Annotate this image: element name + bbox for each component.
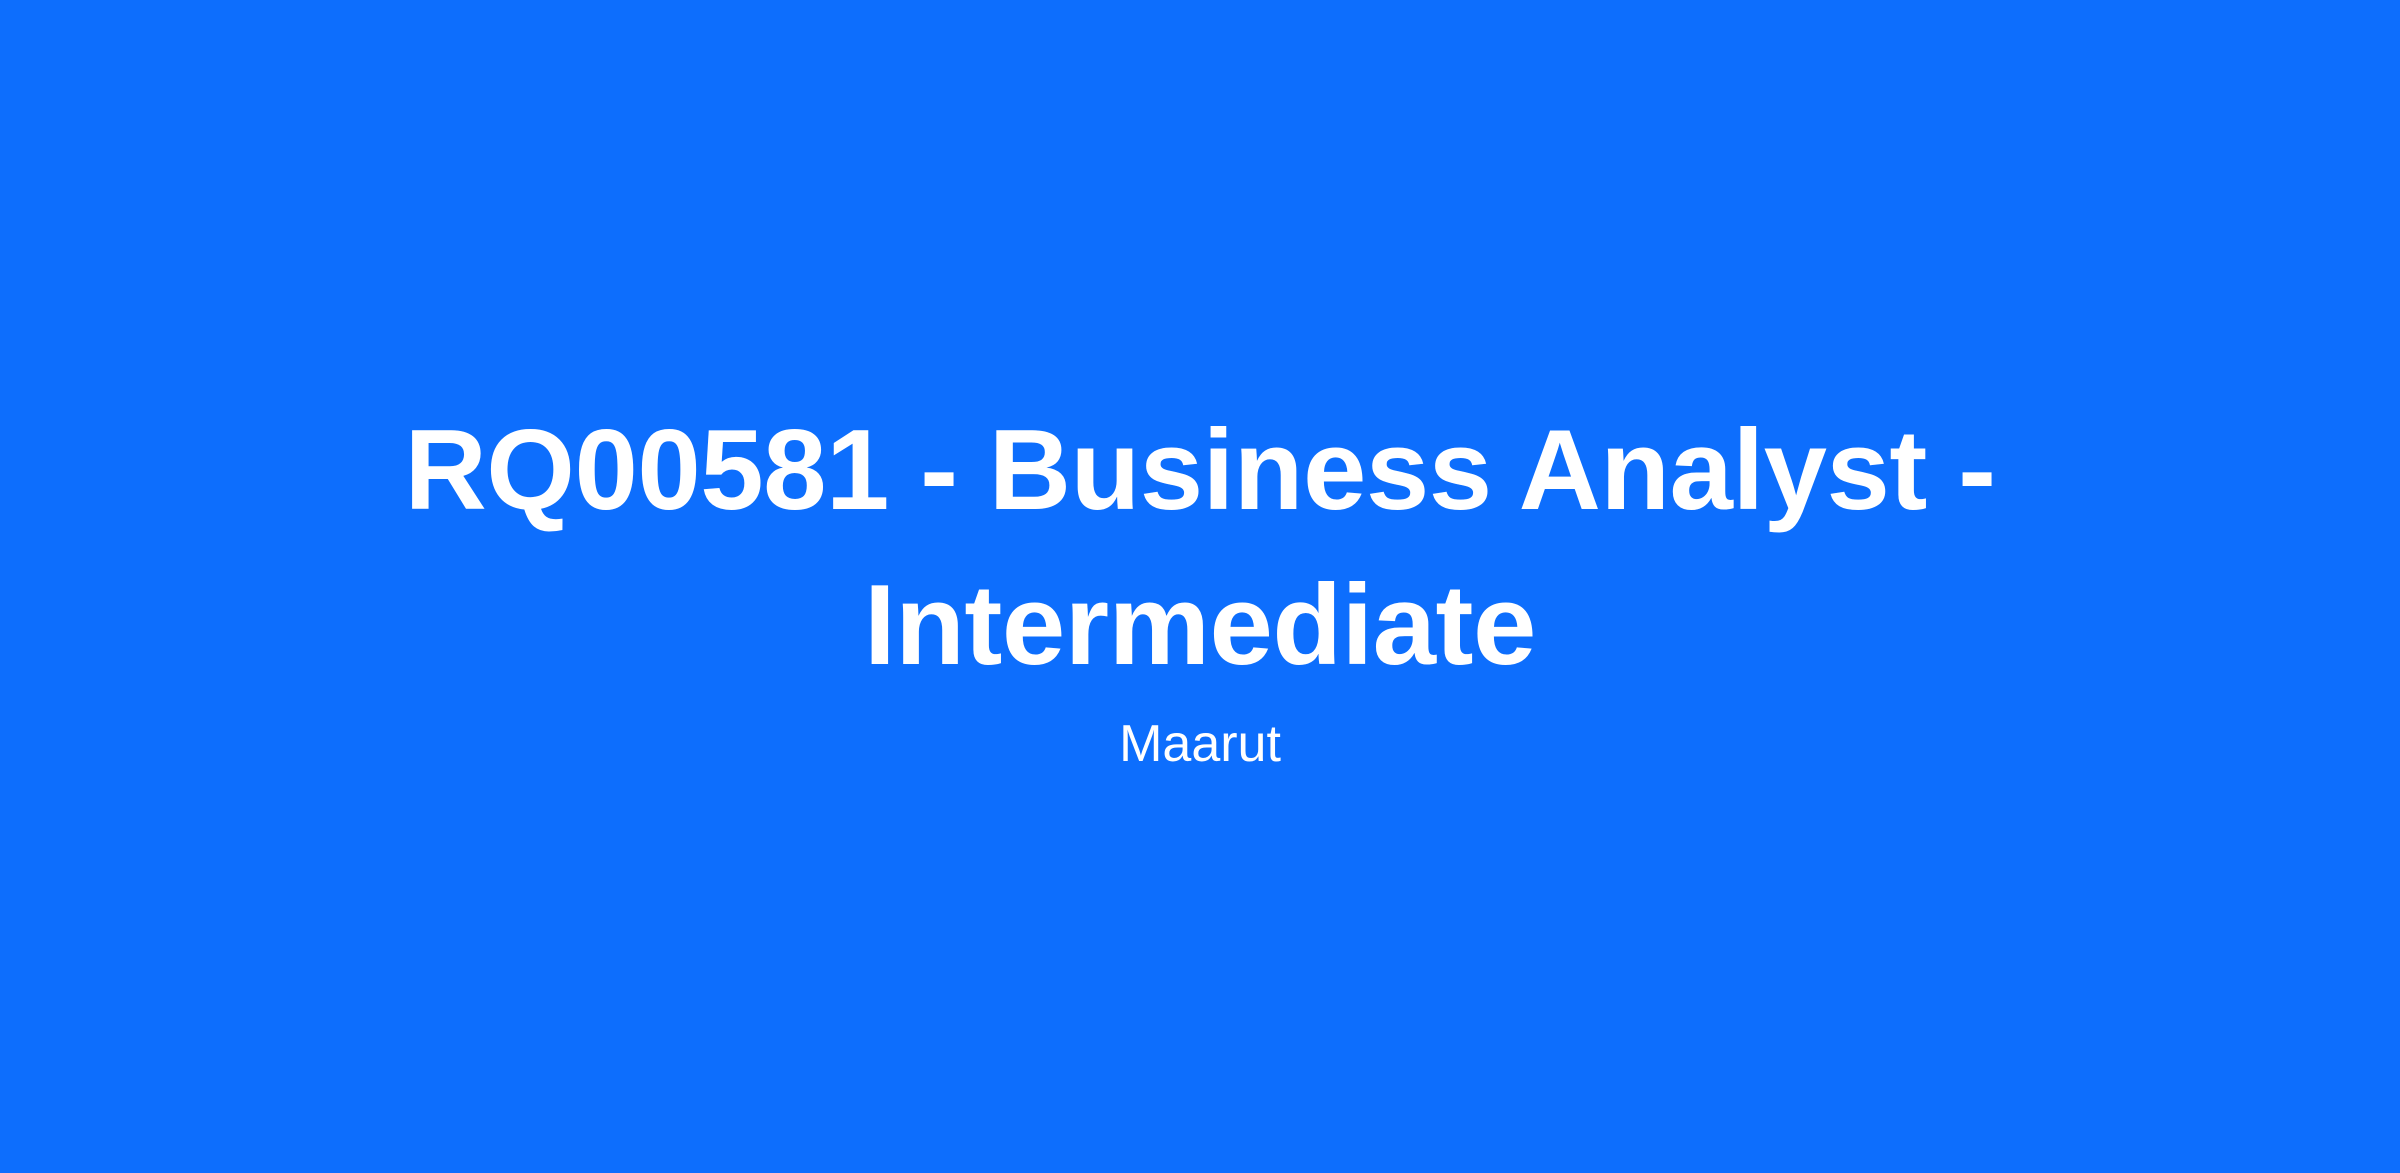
page-title: RQ00581 - Business Analyst - Intermediat… — [300, 393, 2100, 703]
job-posting-hero-banner: RQ00581 - Business Analyst - Intermediat… — [0, 0, 2400, 1173]
hero-text-block: RQ00581 - Business Analyst - Intermediat… — [0, 393, 2400, 775]
company-name: Maarut — [1119, 713, 1281, 775]
